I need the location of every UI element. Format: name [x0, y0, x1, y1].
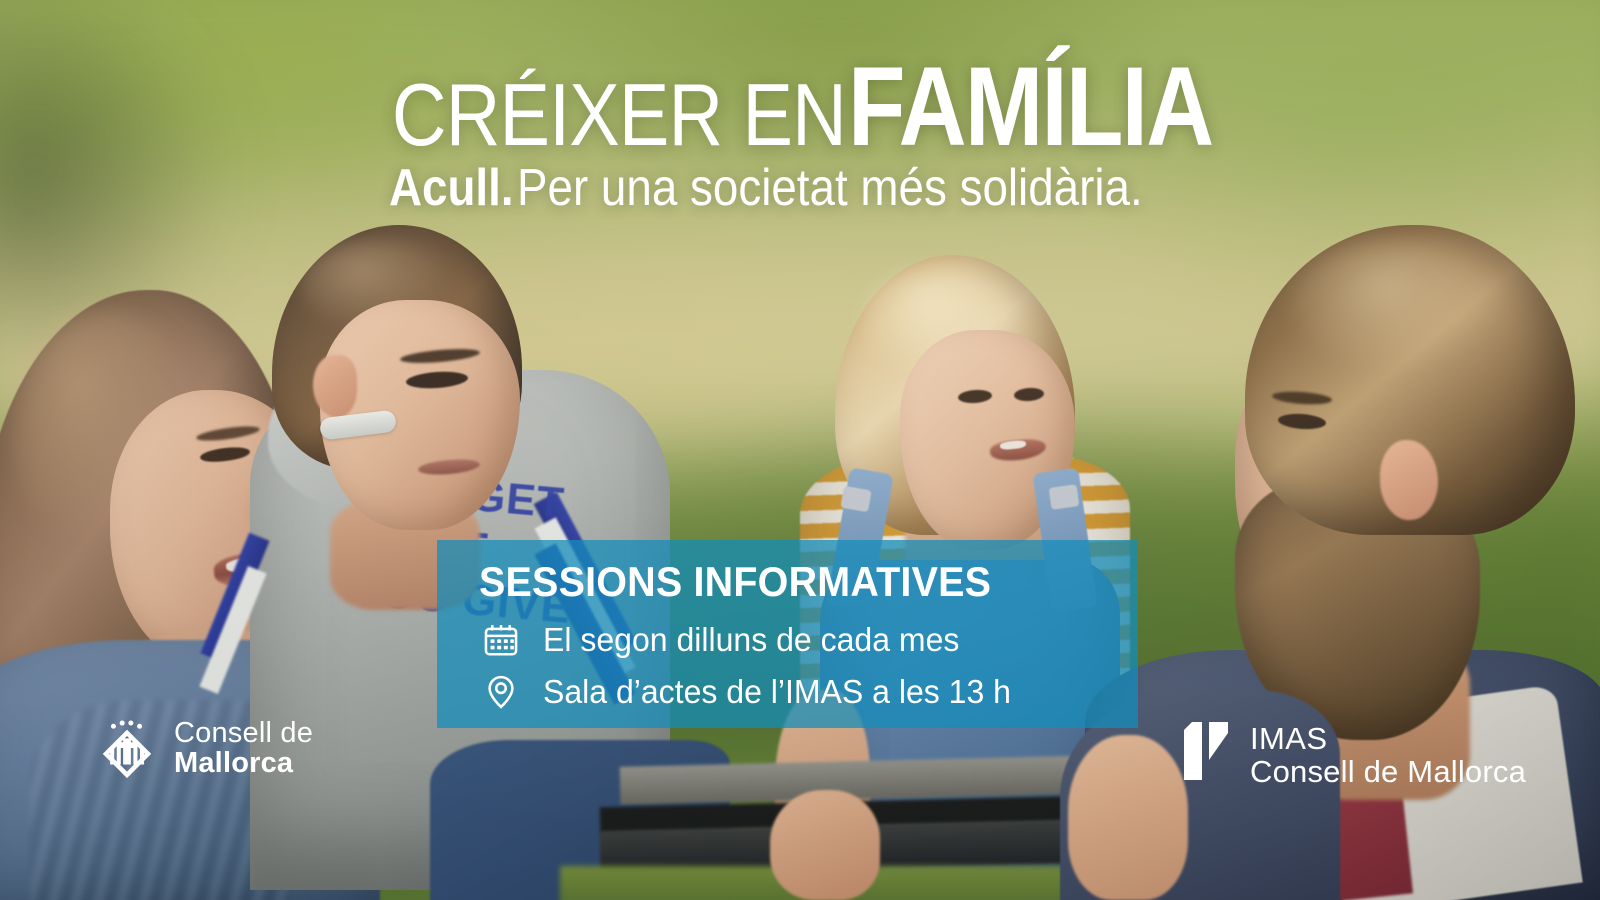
- father-hand: [1068, 735, 1188, 900]
- subhead-light: Per una societat més solidària.: [517, 158, 1143, 218]
- imas-logo-text: IMAS Consell de Mallorca: [1250, 720, 1526, 789]
- sessions-info-box: SESSIONS INFORMATIVES: [437, 540, 1138, 728]
- father-ear: [1380, 440, 1438, 520]
- father-hair-highlight: [1290, 240, 1500, 370]
- info-row-schedule-text: El segon dilluns de cada mes: [543, 621, 959, 659]
- poster-headline: CRÉIXER ENFAMÍLIA: [0, 42, 1600, 171]
- imas-logo-line2: Consell de Mallorca: [1250, 755, 1526, 788]
- boy-ear: [313, 355, 357, 417]
- headline-line-light: CRÉIXER EN: [392, 64, 846, 166]
- location-pin-icon: [481, 672, 521, 712]
- info-row-location-text: Sala d’actes de l’IMAS a les 13 h: [543, 673, 1011, 711]
- poster-subhead: Acull.Per una societat més solidària.: [0, 158, 1600, 218]
- imas-mark-icon: [1178, 720, 1234, 782]
- poster-banner: YOU GET WHAT YOU GIVE: [0, 0, 1600, 900]
- info-box-title: SESSIONS INFORMATIVES: [479, 558, 991, 606]
- calendar-icon: [481, 620, 521, 660]
- consell-de-mallorca-shield-icon: [96, 718, 158, 780]
- info-row-location: Sala d’actes de l’IMAS a les 13 h: [481, 672, 1025, 712]
- subhead-bold: Acull.: [389, 158, 514, 218]
- consell-logo-line2: Mallorca: [174, 749, 313, 779]
- toddler-overall-buckle-left: [840, 486, 871, 513]
- consell-de-mallorca-logo: Consell de Mallorca: [96, 718, 313, 780]
- toddler-hand: [770, 790, 880, 900]
- toddler-overall-buckle-right: [1049, 484, 1080, 510]
- headline-line-bold: FAMÍLIA: [848, 42, 1213, 171]
- info-row-schedule: El segon dilluns de cada mes: [481, 620, 972, 660]
- consell-logo-text: Consell de Mallorca: [174, 719, 313, 778]
- imas-logo: IMAS Consell de Mallorca: [1178, 720, 1526, 789]
- consell-logo-line1: Consell de: [174, 719, 313, 749]
- imas-logo-line1: IMAS: [1250, 722, 1526, 755]
